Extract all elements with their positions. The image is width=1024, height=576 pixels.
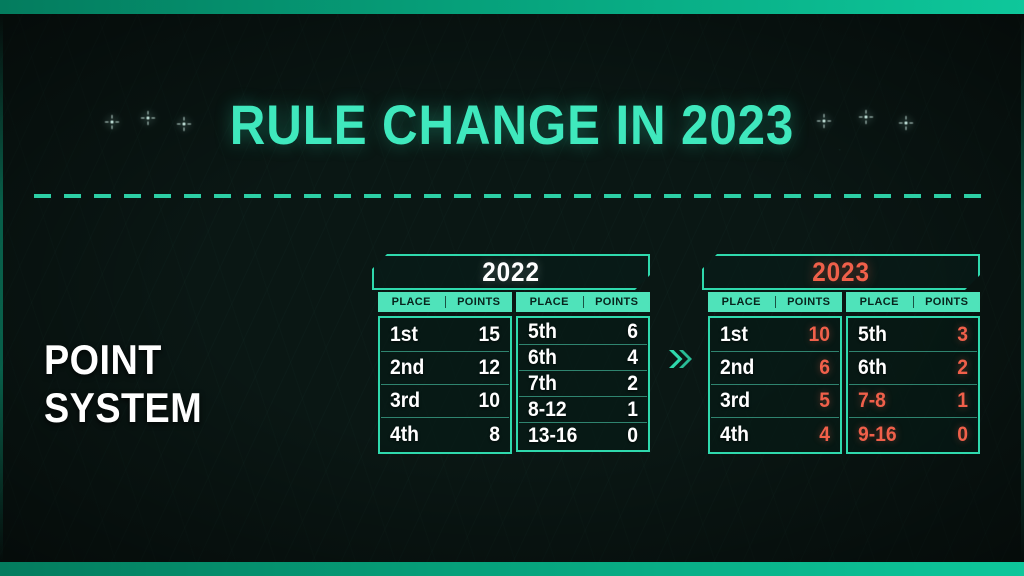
double-chevron-right-icon bbox=[662, 342, 696, 376]
cell-place: 4th bbox=[390, 423, 453, 447]
top-accent-bar bbox=[0, 0, 1024, 14]
table-row: 6th4 bbox=[519, 345, 647, 371]
dashed-divider bbox=[34, 194, 990, 198]
table-row: 3rd10 bbox=[381, 385, 509, 418]
cell-place: 2nd bbox=[390, 356, 453, 380]
page-title: RULE CHANGE IN 2023 bbox=[61, 92, 962, 157]
cell-place: 1st bbox=[390, 323, 453, 347]
table-header: PLACEPOINTS bbox=[846, 292, 980, 312]
table-body: 5th66th47th28-12113-160 bbox=[516, 316, 650, 452]
cell-points: 10 bbox=[791, 323, 830, 347]
infographic-canvas: RULE CHANGE IN 2023 POINT SYSTEM 2022 20… bbox=[0, 0, 1024, 576]
cell-points: 5 bbox=[791, 389, 830, 413]
cell-points: 0 bbox=[599, 424, 638, 448]
table-row: 5th6 bbox=[519, 319, 647, 345]
cell-points: 1 bbox=[929, 389, 968, 413]
table-row: 7th2 bbox=[519, 371, 647, 397]
column-header-points: POINTS bbox=[584, 296, 651, 308]
year-label-2022: 2022 bbox=[482, 257, 540, 288]
cell-place: 6th bbox=[858, 356, 921, 380]
table-2022-places-5-16: PLACEPOINTS5th66th47th28-12113-160 bbox=[516, 292, 650, 452]
table-header: PLACEPOINTS bbox=[378, 292, 512, 312]
cell-place: 5th bbox=[528, 320, 591, 344]
cell-place: 7-8 bbox=[858, 389, 921, 413]
table-row: 8-121 bbox=[519, 397, 647, 423]
table-row: 1st15 bbox=[381, 319, 509, 352]
cell-points: 2 bbox=[599, 372, 638, 396]
cell-points: 8 bbox=[461, 423, 500, 447]
table-body: 1st152nd123rd104th8 bbox=[378, 316, 512, 454]
table-row: 7-81 bbox=[849, 385, 977, 418]
table-2023-places-1-4: PLACEPOINTS1st102nd63rd54th4 bbox=[708, 292, 842, 454]
table-row: 9-160 bbox=[849, 418, 977, 451]
year-banner-2022: 2022 bbox=[372, 254, 650, 290]
cell-place: 8-12 bbox=[528, 398, 591, 422]
cell-place: 9-16 bbox=[858, 423, 921, 447]
table-header: PLACEPOINTS bbox=[708, 292, 842, 312]
table-body: 1st102nd63rd54th4 bbox=[708, 316, 842, 454]
column-header-points: POINTS bbox=[914, 296, 981, 308]
column-header-place: PLACE bbox=[378, 296, 445, 308]
cell-points: 6 bbox=[599, 320, 638, 344]
cell-points: 10 bbox=[461, 389, 500, 413]
table-row: 4th4 bbox=[711, 418, 839, 451]
cell-points: 12 bbox=[461, 356, 500, 380]
table-row: 5th3 bbox=[849, 319, 977, 352]
table-2023-places-5-16: PLACEPOINTS5th36th27-819-160 bbox=[846, 292, 980, 454]
column-header-place: PLACE bbox=[708, 296, 775, 308]
column-header-separator bbox=[913, 296, 914, 308]
table-row: 1st10 bbox=[711, 319, 839, 352]
cell-place: 1st bbox=[720, 323, 783, 347]
column-header-points: POINTS bbox=[776, 296, 843, 308]
cell-place: 3rd bbox=[720, 389, 783, 413]
column-header-separator bbox=[583, 296, 584, 308]
cell-points: 2 bbox=[929, 356, 968, 380]
cell-place: 5th bbox=[858, 323, 921, 347]
column-header-separator bbox=[445, 296, 446, 308]
column-header-separator bbox=[775, 296, 776, 308]
cell-points: 6 bbox=[791, 356, 830, 380]
cell-place: 4th bbox=[720, 423, 783, 447]
bottom-accent-bar bbox=[0, 562, 1024, 576]
column-header-points: POINTS bbox=[446, 296, 513, 308]
cell-points: 3 bbox=[929, 323, 968, 347]
year-label-2023: 2023 bbox=[812, 257, 870, 288]
cell-points: 4 bbox=[599, 346, 638, 370]
cell-place: 3rd bbox=[390, 389, 453, 413]
cell-points: 1 bbox=[599, 398, 638, 422]
table-row: 13-160 bbox=[519, 423, 647, 449]
point-system-caption: POINT SYSTEM bbox=[44, 336, 314, 432]
table-row: 4th8 bbox=[381, 418, 509, 451]
cell-points: 0 bbox=[929, 423, 968, 447]
cell-place: 6th bbox=[528, 346, 591, 370]
cell-points: 4 bbox=[791, 423, 830, 447]
table-row: 3rd5 bbox=[711, 385, 839, 418]
cell-place: 13-16 bbox=[528, 424, 591, 448]
left-edge-accent bbox=[0, 14, 3, 562]
column-header-place: PLACE bbox=[846, 296, 913, 308]
table-2022-places-1-4: PLACEPOINTS1st152nd123rd104th8 bbox=[378, 292, 512, 454]
table-body: 5th36th27-819-160 bbox=[846, 316, 980, 454]
table-row: 6th2 bbox=[849, 352, 977, 385]
cell-points: 15 bbox=[461, 323, 500, 347]
table-row: 2nd12 bbox=[381, 352, 509, 385]
column-header-place: PLACE bbox=[516, 296, 583, 308]
year-banner-2023: 2023 bbox=[702, 254, 980, 290]
cell-place: 7th bbox=[528, 372, 591, 396]
table-row: 2nd6 bbox=[711, 352, 839, 385]
table-header: PLACEPOINTS bbox=[516, 292, 650, 312]
cell-place: 2nd bbox=[720, 356, 783, 380]
